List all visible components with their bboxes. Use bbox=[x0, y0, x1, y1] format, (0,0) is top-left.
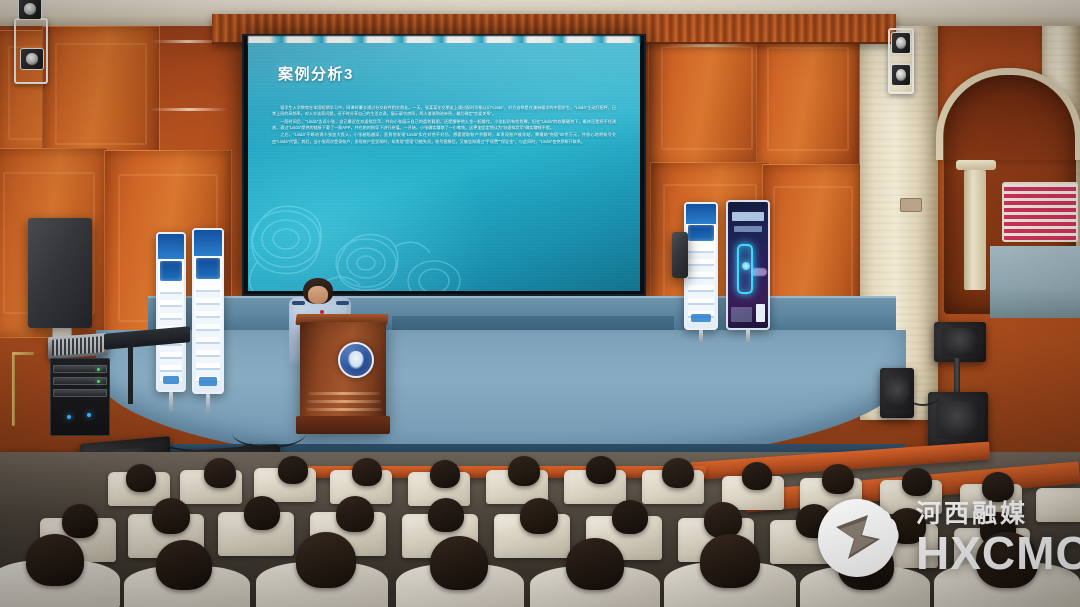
banner-right-1-chip bbox=[691, 314, 710, 321]
audience-head bbox=[428, 498, 464, 532]
banner-right-2-stand bbox=[746, 330, 750, 344]
arch-pillar bbox=[964, 170, 986, 290]
rack-led-blue-1 bbox=[67, 415, 71, 419]
arch-capital bbox=[956, 160, 996, 170]
audience-head bbox=[244, 496, 280, 530]
audience-head-foreground bbox=[700, 534, 760, 588]
wall-plate bbox=[900, 198, 922, 212]
wall-panel-right-1 bbox=[648, 28, 766, 168]
podium-stripe-2 bbox=[307, 400, 381, 403]
wall-panel-left-2 bbox=[42, 26, 160, 162]
podium-stripe-3 bbox=[306, 408, 382, 411]
amplifier-rack bbox=[50, 358, 110, 436]
watermark: 河西融媒 HXCMC bbox=[818, 495, 1080, 581]
audience-head bbox=[704, 502, 742, 538]
banner-left-2-stand bbox=[206, 394, 210, 414]
rack-led-green-1 bbox=[97, 368, 100, 371]
banner-left-1-header bbox=[158, 234, 184, 259]
podium-stripe-1 bbox=[308, 392, 380, 395]
wall-panel-right-2 bbox=[756, 30, 860, 168]
auditorium-photo: 案例分析3 留学生入学教育在本国短期学习中，网课时暑交通过社交软件相交朋友。一天… bbox=[0, 0, 1080, 607]
audience-head bbox=[204, 458, 236, 488]
slide-body: 留学生入学教育在本国短期学习中，网课时暑交通过社交软件相交朋友。一天，张某某在交… bbox=[272, 105, 616, 146]
speaker-epaulette-right bbox=[336, 301, 349, 305]
slide-paragraph-2: 一段时间后，"Linda"告诉小张，自己最近在炒虚拟货币，并向小张展示自己的盈利… bbox=[272, 119, 616, 132]
banner-left-1-chip bbox=[163, 376, 179, 384]
rack-unit-3 bbox=[53, 389, 106, 397]
watermark-english: HXCMC bbox=[916, 530, 1080, 576]
audience-head-foreground bbox=[430, 536, 488, 590]
panel-highlight-right-1 bbox=[668, 44, 748, 47]
banner-right-1 bbox=[684, 202, 718, 330]
spotlight-right-1-icon bbox=[891, 32, 911, 54]
mic-stand-left-arm bbox=[12, 352, 34, 355]
rack-led-blue-2 bbox=[87, 413, 91, 417]
banner-right-1-content bbox=[688, 246, 713, 320]
banner-right-2-footer bbox=[731, 307, 752, 322]
audience-head-foreground bbox=[566, 538, 624, 590]
spotlight-left-1-icon bbox=[18, 0, 42, 20]
mixing-console bbox=[48, 333, 108, 359]
hxcmc-logo-icon bbox=[818, 495, 904, 581]
slide-title: 案例分析3 bbox=[278, 63, 354, 84]
equipment-table-leg bbox=[128, 346, 133, 404]
watermark-chinese: 河西融媒 bbox=[916, 501, 1080, 526]
audience-head bbox=[662, 458, 694, 488]
wall-speaker-left bbox=[28, 218, 92, 328]
rear-doorway bbox=[990, 246, 1080, 318]
audience-head bbox=[62, 504, 98, 538]
banner-right-2-qr bbox=[756, 304, 765, 322]
banner-left-1-stand bbox=[169, 392, 173, 412]
banner-left-2 bbox=[192, 228, 224, 394]
rack-led-green-2 bbox=[97, 380, 100, 383]
podium-base bbox=[296, 416, 390, 434]
audience-head bbox=[508, 456, 540, 486]
audience-head bbox=[126, 464, 156, 492]
wall-speaker-right bbox=[672, 232, 688, 278]
wall-decor-red bbox=[1002, 182, 1078, 242]
banner-left-2-content bbox=[196, 285, 220, 382]
banner-left-1-title bbox=[160, 261, 183, 281]
podium-emblem bbox=[338, 342, 374, 378]
spotlight-right-2-icon bbox=[891, 64, 911, 86]
speaker-face bbox=[308, 286, 328, 304]
audience-head bbox=[822, 464, 854, 494]
audience-head bbox=[742, 462, 772, 490]
banner-right-1-title bbox=[688, 225, 714, 241]
audience-head bbox=[902, 468, 932, 496]
podium bbox=[300, 322, 386, 430]
audience-head-foreground bbox=[296, 532, 356, 588]
audience-head bbox=[520, 498, 558, 534]
banner-left-2-chip bbox=[199, 377, 217, 385]
speaker-epaulette-left bbox=[292, 301, 305, 305]
audience-head bbox=[278, 456, 308, 484]
audience-head-foreground bbox=[26, 534, 84, 586]
banner-left-1 bbox=[156, 232, 186, 392]
watermark-text: 河西融媒 HXCMC bbox=[916, 501, 1080, 576]
audience-head bbox=[430, 460, 460, 488]
audience-head bbox=[352, 458, 382, 486]
audience-head-foreground bbox=[156, 540, 212, 590]
banner-right-1-header bbox=[686, 204, 716, 224]
slide-paragraph-1: 留学生入学教育在本国短期学习中，网课时暑交通过社交软件相交朋友。一天，张某某在交… bbox=[272, 105, 616, 118]
audience-head bbox=[612, 500, 648, 534]
banner-right-1-stand bbox=[699, 330, 703, 344]
mic-stand-left bbox=[12, 352, 15, 426]
panel-highlight-left-2 bbox=[150, 108, 228, 111]
audience-head bbox=[336, 496, 374, 532]
audience-head bbox=[152, 498, 190, 534]
banner-left-2-title bbox=[196, 258, 221, 279]
audience-head bbox=[586, 456, 616, 484]
slide-paragraph-3: 之后，"Linda"不断劝诱小张加大投入，小张越陷越深，直到他发现"Linda"… bbox=[272, 132, 616, 145]
peony-decoration-icon bbox=[248, 177, 474, 291]
line-array-speaker bbox=[934, 322, 986, 362]
led-screen: 案例分析3 留学生入学教育在本国短期学习中，网课时暑交通过社交软件相交朋友。一天… bbox=[248, 43, 640, 291]
spotlight-left-2-icon bbox=[20, 48, 44, 70]
banner-left-2-header bbox=[194, 230, 222, 256]
banner-right-2-header-bar bbox=[732, 212, 764, 221]
banner-right-2 bbox=[726, 200, 770, 330]
speaker-cable-right bbox=[906, 382, 940, 406]
banner-right-2-subbar bbox=[734, 226, 763, 232]
neon-hand bbox=[751, 268, 767, 276]
